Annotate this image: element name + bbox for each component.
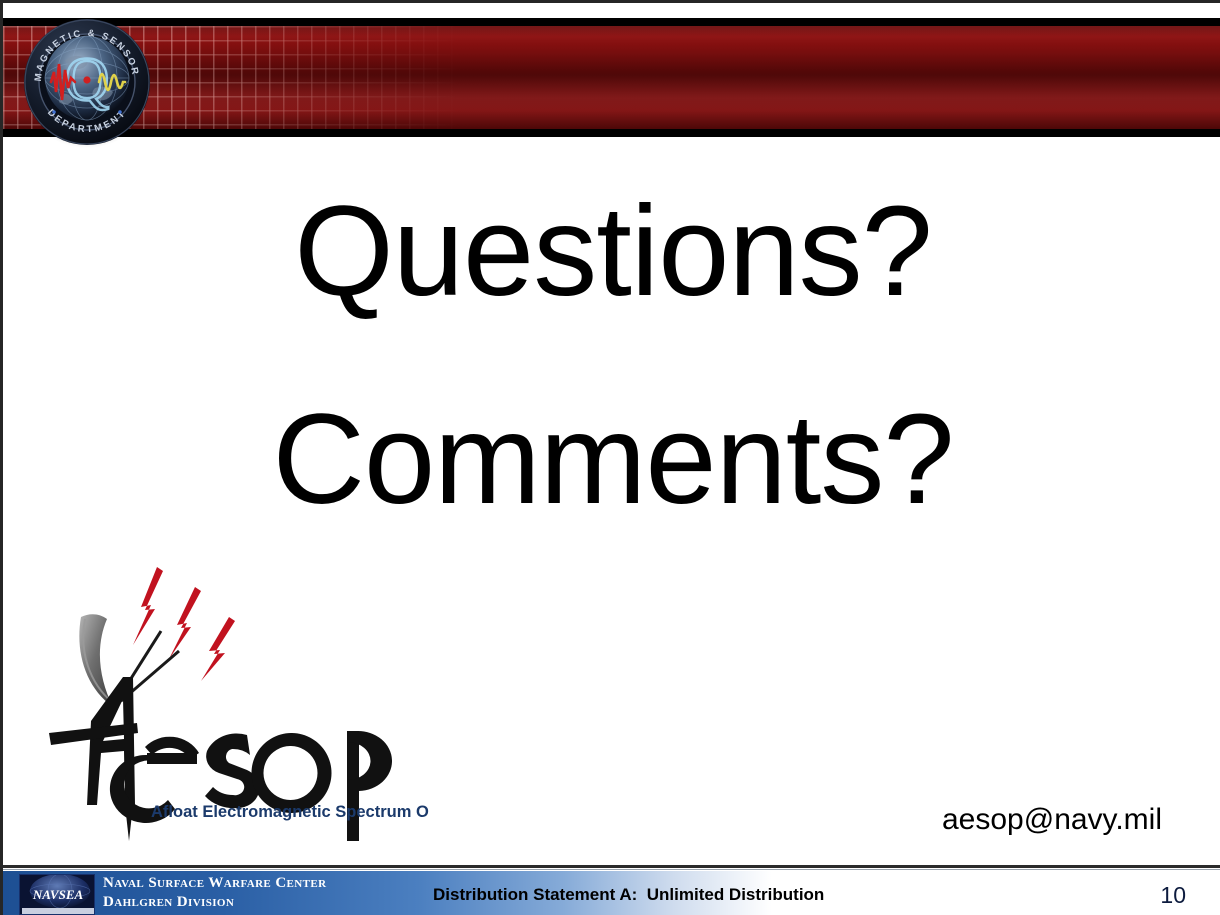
- contact-email[interactable]: aesop@navy.mil: [942, 803, 1162, 837]
- aesop-tagline: Afloat Electromagnetic Spectrum Operatio…: [151, 803, 429, 821]
- footer-divider-highlight: [3, 869, 1220, 870]
- header-banner: [3, 18, 1220, 137]
- navsea-logo: NAVSEA: [19, 874, 95, 915]
- aesop-logo: Afloat Electromagnetic Spectrum Operatio…: [29, 555, 429, 845]
- slide-body: Questions? Comments?: [3, 188, 1220, 524]
- navsea-org-line2: Dahlgren Division: [103, 893, 326, 912]
- footer-divider: [3, 865, 1220, 868]
- header-banner-fill: [3, 26, 1220, 129]
- header-sheen-overlay: [3, 26, 1220, 129]
- navsea-logo-text: NAVSEA: [32, 887, 84, 902]
- page-number: 10: [1160, 882, 1186, 909]
- lightning-bolts-icon: [133, 567, 235, 681]
- distribution-statement: Distribution Statement A: Unlimited Dist…: [433, 885, 824, 905]
- headline-questions: Questions?: [3, 188, 1220, 316]
- headline-comments: Comments?: [3, 396, 1220, 524]
- presentation-slide: Q ELECTROMAGNETIC & SENSOR SYSTEMS DEPAR…: [0, 0, 1220, 915]
- department-seal-icon: Q ELECTROMAGNETIC & SENSOR SYSTEMS DEPAR…: [21, 16, 153, 148]
- navsea-org-line1: Naval Surface Warfare Center: [103, 874, 326, 893]
- navsea-organization: Naval Surface Warfare Center Dahlgren Di…: [103, 874, 326, 912]
